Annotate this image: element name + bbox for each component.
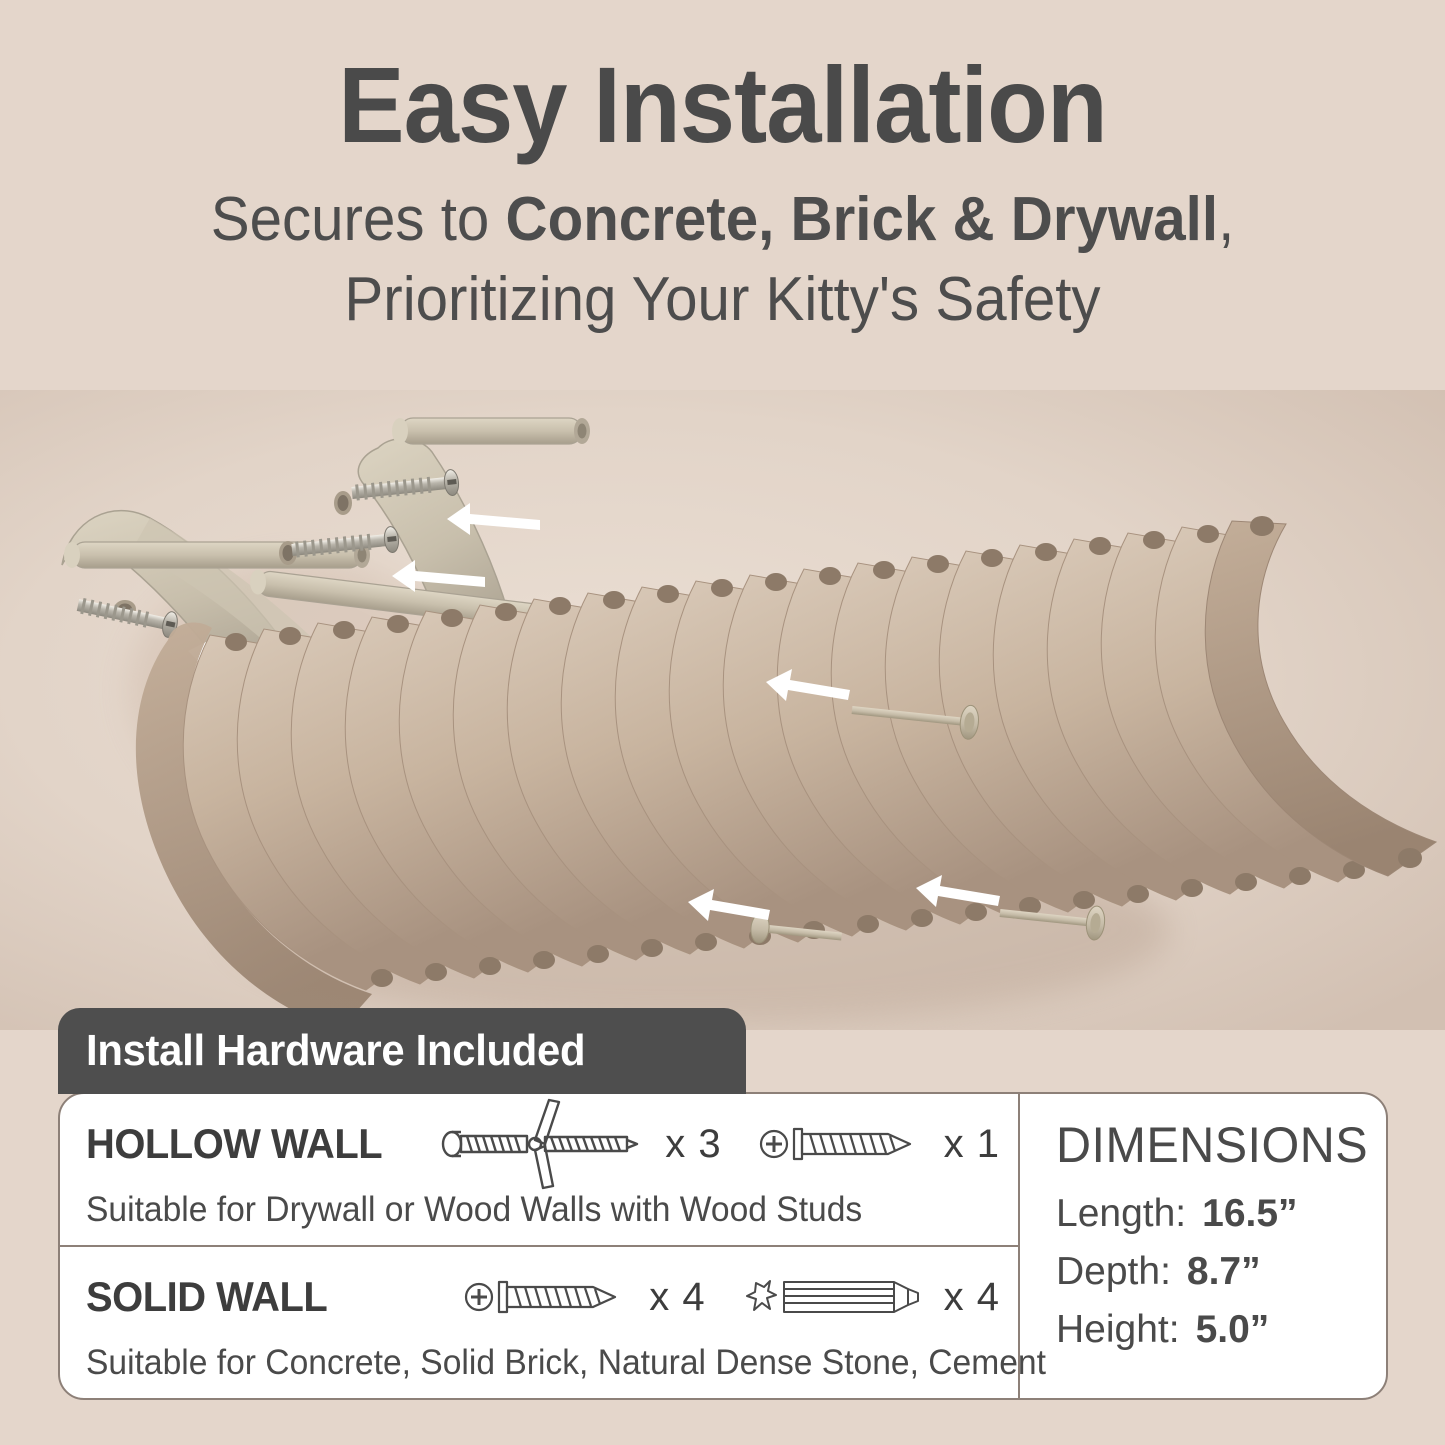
toggle-bolt-icon [439, 1096, 651, 1192]
hardware-item: x 1 [758, 1116, 1000, 1172]
product-image [0, 390, 1445, 1030]
dimension-value: 5.0” [1196, 1308, 1270, 1351]
hardware-item-qty: x 4 [649, 1275, 705, 1320]
install-hardware-tab: Install Hardware Included [58, 1008, 746, 1094]
hardware-item-qty: x 1 [944, 1122, 1000, 1167]
subtitle-line-1: Secures to Concrete, Brick & Drywall, [43, 183, 1401, 256]
hardware-list: HOLLOW WALL [60, 1094, 1018, 1398]
dimension-row-length: Length:16.5” [1056, 1192, 1386, 1236]
wood-screw-icon [463, 1269, 635, 1325]
hardware-row-hollow-wall: HOLLOW WALL [60, 1094, 1018, 1247]
install-hardware-tab-label: Install Hardware Included [86, 1026, 585, 1076]
hardware-row-solid-wall: SOLID WALL x 4 [60, 1247, 1018, 1398]
hardware-item: x 4 [742, 1269, 1000, 1325]
hardware-items: x 3 [439, 1096, 1018, 1192]
dimension-label: Length: [1056, 1192, 1186, 1235]
hardware-row-header: SOLID WALL x 4 [86, 1261, 1018, 1333]
wall-anchor-icon [742, 1269, 930, 1325]
page-title: Easy Installation [58, 48, 1387, 161]
hardware-item-qty: x 3 [665, 1122, 721, 1167]
dimensions-panel: DIMENSIONS Length:16.5” Depth:8.7” Heigh… [1020, 1094, 1386, 1398]
subtitle-line-2: Prioritizing Your Kitty's Safety [43, 263, 1401, 336]
subtitle-comma: , [1218, 185, 1234, 254]
subtitle-bold-text: Concrete, Brick & Drywall [506, 185, 1219, 254]
dimension-label: Depth: [1056, 1250, 1171, 1293]
info-card: HOLLOW WALL [58, 1092, 1388, 1400]
dimensions-title: DIMENSIONS [1056, 1116, 1376, 1174]
wood-screw-icon [758, 1116, 930, 1172]
hardware-row-description: Suitable for Drywall or Wood Walls with … [86, 1190, 981, 1230]
hardware-row-header: HOLLOW WALL [86, 1108, 1018, 1180]
hardware-item: x 4 [463, 1269, 705, 1325]
dimension-value: 8.7” [1187, 1250, 1261, 1293]
hardware-row-title: SOLID WALL [86, 1273, 327, 1321]
subtitle-light-text: Secures to [211, 185, 506, 254]
hardware-row-title: HOLLOW WALL [86, 1120, 382, 1168]
hardware-item-qty: x 4 [944, 1275, 1000, 1320]
hardware-row-description: Suitable for Concrete, Solid Brick, Natu… [86, 1343, 981, 1383]
header-block: Easy Installation Secures to Concrete, B… [0, 0, 1445, 336]
dimension-value: 16.5” [1202, 1192, 1297, 1235]
dimension-label: Height: [1056, 1308, 1180, 1351]
hardware-items: x 4 [463, 1269, 1018, 1325]
dimension-row-height: Height:5.0” [1056, 1308, 1386, 1352]
hardware-item: x 3 [439, 1096, 721, 1192]
dimension-row-depth: Depth:8.7” [1056, 1250, 1386, 1294]
